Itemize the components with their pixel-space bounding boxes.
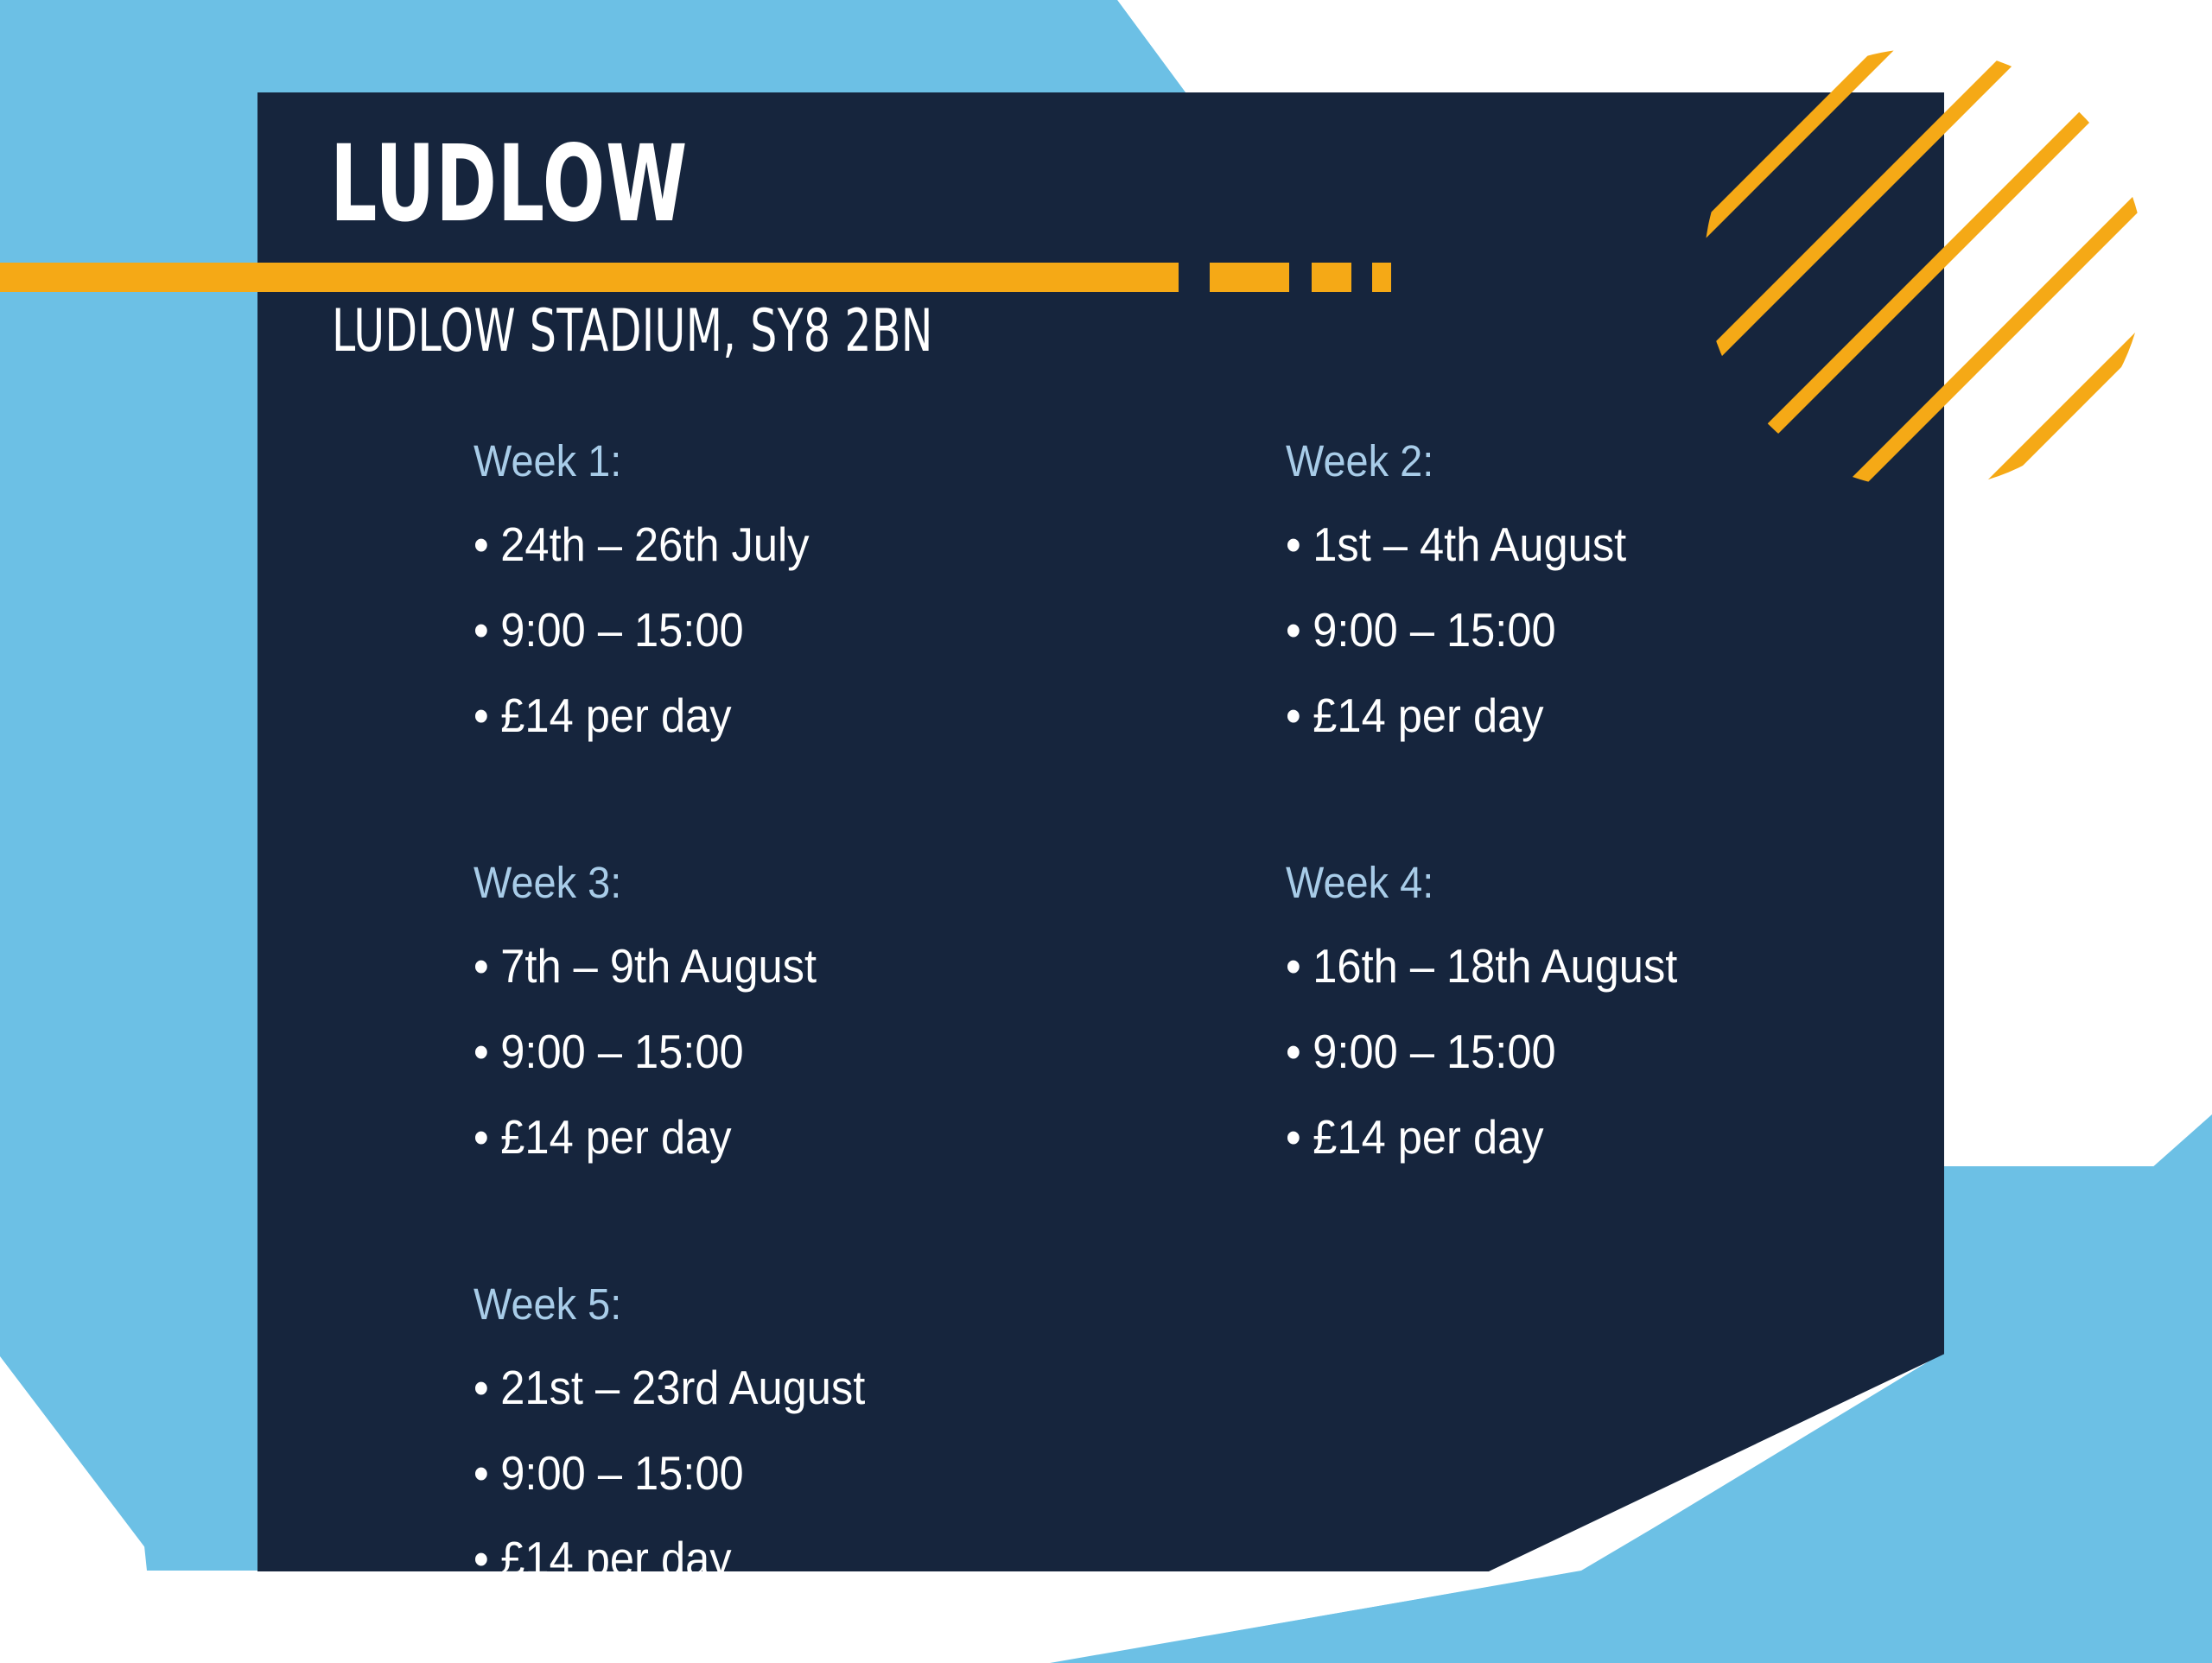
list-item: •£14 per day [474, 1535, 1221, 1583]
orange-rule [0, 263, 2212, 292]
week-detail-list: •16th – 18th August •9:00 – 15:00 •£14 p… [1286, 943, 1873, 1161]
list-item-text: £14 per day [1313, 1110, 1543, 1164]
list-item-text: £14 per day [1313, 689, 1543, 742]
weeks-grid: Week 1: •24th – 26th July •9:00 – 15:00 … [474, 439, 1873, 1621]
week-label: Week 4: [1286, 860, 1827, 904]
list-item: •21st – 23rd August [474, 1364, 1221, 1412]
week-label: Week 3: [474, 860, 1221, 904]
list-item: •9:00 – 15:00 [474, 606, 1221, 654]
blue-wedge-left-taper [0, 169, 257, 1571]
list-item: •1st – 4th August [1286, 521, 1827, 568]
week-block-1: Week 1: •24th – 26th July •9:00 – 15:00 … [474, 439, 1286, 778]
list-item-text: £14 per day [500, 1110, 731, 1164]
bullet-icon: • [474, 692, 500, 739]
list-item: •£14 per day [1286, 692, 1827, 739]
list-item-text: 7th – 9th August [500, 939, 817, 993]
list-item-text: £14 per day [500, 1532, 731, 1585]
bullet-icon: • [1286, 692, 1313, 739]
bullet-icon: • [1286, 606, 1313, 654]
bullet-icon: • [474, 1535, 500, 1583]
bullet-icon: • [474, 521, 500, 568]
week-detail-list: •21st – 23rd August •9:00 – 15:00 •£14 p… [474, 1364, 1286, 1583]
list-item: •24th – 26th July [474, 521, 1221, 568]
list-item-text: 9:00 – 15:00 [500, 1446, 743, 1500]
list-item: •9:00 – 15:00 [1286, 606, 1827, 654]
list-item-text: 9:00 – 15:00 [1313, 1025, 1555, 1078]
list-item: •9:00 – 15:00 [474, 1450, 1221, 1497]
bullet-icon: • [1286, 1028, 1313, 1076]
list-item: •16th – 18th August [1286, 943, 1827, 990]
list-item-text: 24th – 26th July [500, 517, 809, 571]
bullet-icon: • [474, 1450, 500, 1497]
blue-wedge-top-left-upper [0, 0, 1185, 92]
list-item-text: 9:00 – 15:00 [500, 1025, 743, 1078]
bullet-icon: • [1286, 1114, 1313, 1161]
week-block-3: Week 3: •7th – 9th August •9:00 – 15:00 … [474, 860, 1286, 1199]
page-title: LUDLOW [330, 131, 688, 237]
bullet-icon: • [1286, 521, 1313, 568]
bullet-icon: • [474, 1364, 500, 1412]
list-item: •£14 per day [474, 1114, 1221, 1161]
week-label: Week 2: [1286, 439, 1827, 483]
poster-canvas: LUDLOW LUDLOW STADIUM, SY8 2BN Week 1: •… [0, 0, 2212, 1663]
list-item-text: 21st – 23rd August [500, 1361, 865, 1414]
list-item-text: 16th – 18th August [1313, 939, 1677, 993]
orange-rule-dash-short [1372, 263, 1391, 292]
bullet-icon: • [1286, 943, 1313, 990]
list-item-text: £14 per day [500, 689, 731, 742]
orange-rule-dash-long [1210, 263, 1289, 292]
list-item: •9:00 – 15:00 [1286, 1028, 1827, 1076]
orange-rule-dash-medium [1312, 263, 1351, 292]
list-item: •9:00 – 15:00 [474, 1028, 1221, 1076]
week-label: Week 1: [474, 439, 1221, 483]
week-detail-list: •24th – 26th July •9:00 – 15:00 •£14 per… [474, 521, 1286, 739]
list-item-text: 1st – 4th August [1313, 517, 1626, 571]
list-item: •£14 per day [1286, 1114, 1827, 1161]
week-label: Week 5: [474, 1282, 1221, 1326]
venue-subtitle: LUDLOW STADIUM, SY8 2BN [332, 302, 933, 361]
bullet-icon: • [474, 943, 500, 990]
list-item: •7th – 9th August [474, 943, 1221, 990]
week-block-2: Week 2: •1st – 4th August •9:00 – 15:00 … [1286, 439, 1873, 778]
list-item-text: 9:00 – 15:00 [1313, 603, 1555, 657]
bullet-icon: • [474, 606, 500, 654]
week-detail-list: •7th – 9th August •9:00 – 15:00 •£14 per… [474, 943, 1286, 1161]
week-detail-list: •1st – 4th August •9:00 – 15:00 •£14 per… [1286, 521, 1873, 739]
list-item: •£14 per day [474, 692, 1221, 739]
bullet-icon: • [474, 1114, 500, 1161]
week-block-4: Week 4: •16th – 18th August •9:00 – 15:0… [1286, 860, 1873, 1199]
week-block-5: Week 5: •21st – 23rd August •9:00 – 15:0… [474, 1282, 1286, 1621]
list-item-text: 9:00 – 15:00 [500, 603, 743, 657]
orange-rule-solid [0, 263, 1179, 292]
bullet-icon: • [474, 1028, 500, 1076]
